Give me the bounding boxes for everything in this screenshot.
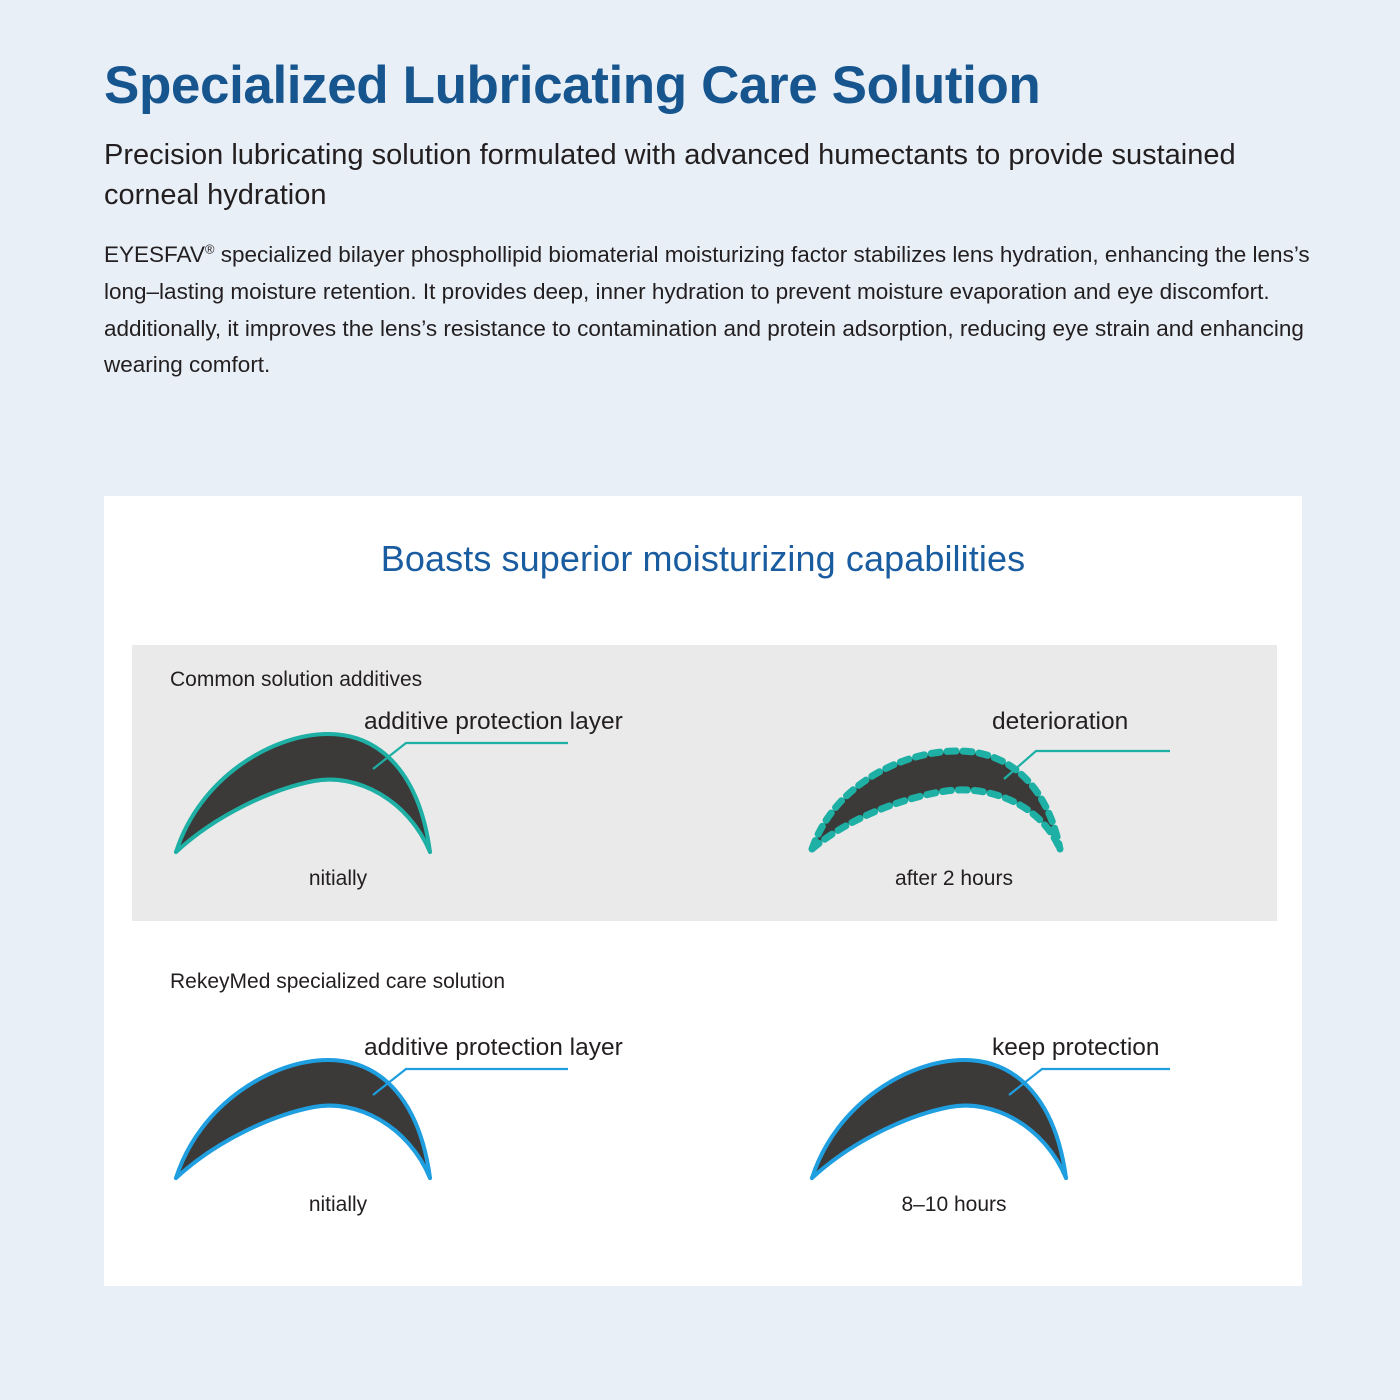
page-body-paragraph: EYESFAV® specialized bilayer phosphollip… — [104, 237, 1324, 384]
lens-caption-8-10-hours: 8–10 hours — [824, 1193, 1084, 1217]
lens-caption-after-2-hours: after 2 hours — [824, 867, 1084, 891]
callout-label-additive-protection-layer: additive protection layer — [364, 1036, 623, 1061]
page-subtitle: Precision lubricating solution formulate… — [104, 135, 1334, 215]
lens-body-shape — [812, 1060, 1066, 1178]
lens-row-common: additive protection layer nitially deter… — [132, 645, 1277, 921]
lens-figure-rekeymed-initial: additive protection layer nitially — [168, 1033, 638, 1243]
page-title: Specialized Lubricating Care Solution — [104, 56, 1334, 115]
card-heading: Boasts superior moisturizing capabilitie… — [104, 496, 1302, 580]
callout-leader-line — [373, 743, 568, 769]
lens-figure-common-initial: additive protection layer nitially — [168, 707, 638, 917]
header-block: Specialized Lubricating Care Solution Pr… — [104, 56, 1334, 384]
lens-body-shape — [812, 751, 1060, 849]
lens-figure-common-after-2-hours: deterioration after 2 hours — [804, 707, 1274, 917]
panel-common-solution: Common solution additives additive prote… — [132, 645, 1277, 921]
callout-leader-line — [373, 1069, 568, 1095]
panel-rekeymed-solution: RekeyMed specialized care solution addit… — [132, 947, 1277, 1247]
callout-label-keep-protection: keep protection — [992, 1036, 1160, 1061]
comparison-card: Boasts superior moisturizing capabilitie… — [104, 496, 1302, 1286]
page-root: Specialized Lubricating Care Solution Pr… — [0, 0, 1400, 1400]
callout-leader-line — [1004, 751, 1170, 779]
brand-name: EYESFAV — [104, 242, 205, 267]
callout-label-additive-protection-layer: additive protection layer — [364, 710, 623, 735]
lens-caption-initially: nitially — [208, 1193, 468, 1217]
lens-body-shape — [176, 1060, 430, 1178]
body-copy: specialized bilayer phosphollipid biomat… — [104, 242, 1310, 377]
lens-caption-initially: nitially — [208, 867, 468, 891]
lens-figure-rekeymed-8-10-hours: keep protection 8–10 hours — [804, 1033, 1274, 1243]
lens-body-shape — [176, 734, 430, 852]
lens-row-rekeymed: additive protection layer nitially keep … — [132, 947, 1277, 1247]
callout-label-deterioration: deterioration — [992, 710, 1128, 735]
